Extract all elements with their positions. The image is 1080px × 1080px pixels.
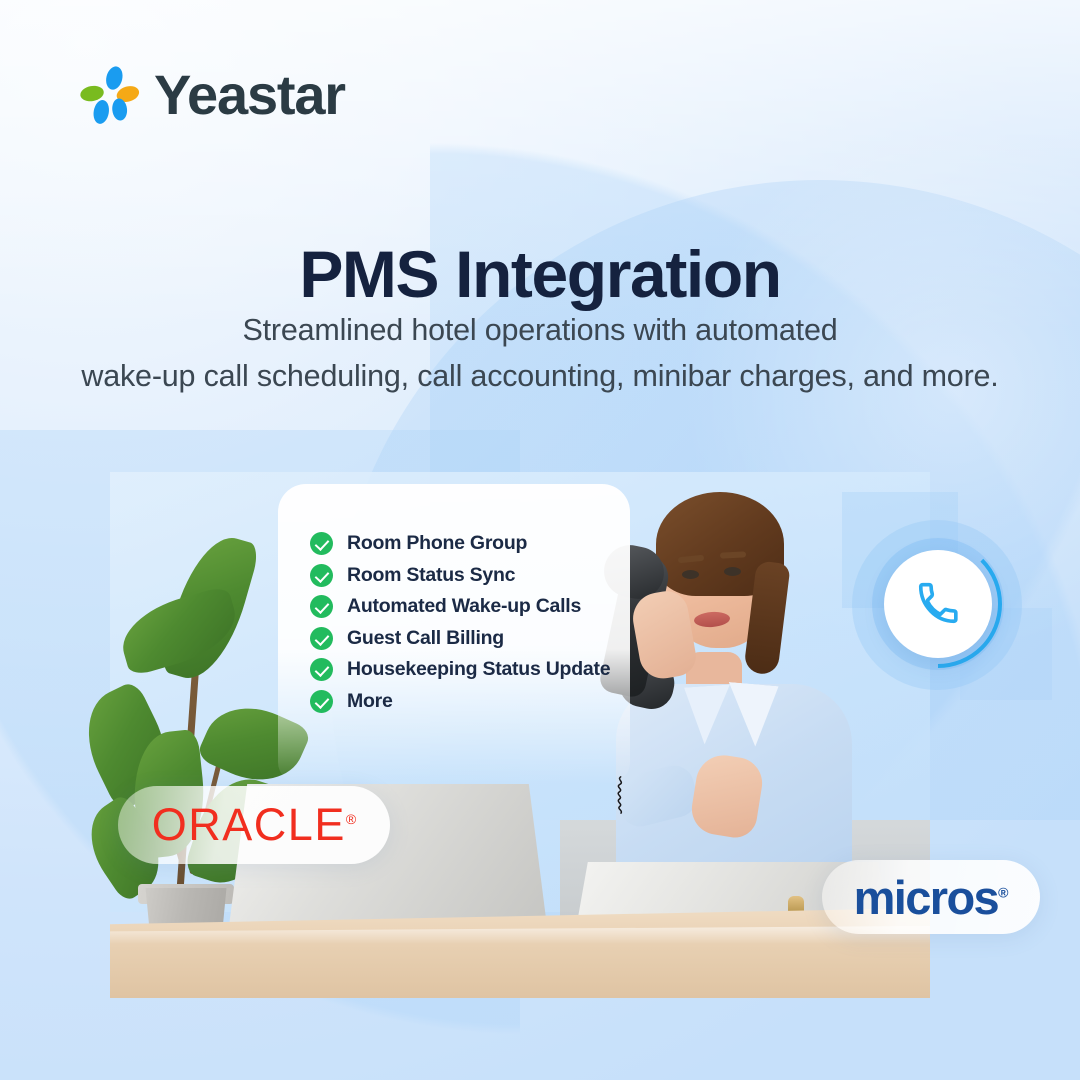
partner-badge-micros[interactable]: micros® (822, 860, 1040, 934)
phone-handset-icon (915, 581, 961, 627)
phone-badge (842, 512, 1042, 698)
check-circle-icon (310, 595, 333, 618)
list-item: Automated Wake-up Calls (310, 591, 640, 623)
check-circle-icon (310, 627, 333, 650)
feature-label: Automated Wake-up Calls (347, 595, 581, 618)
poster-canvas: Yeastar PMS Integration Streamlined hote… (0, 0, 1080, 1080)
feature-label: Room Phone Group (347, 532, 527, 555)
micros-registered-mark: ® (998, 884, 1008, 900)
check-circle-icon (310, 658, 333, 681)
check-circle-icon (310, 532, 333, 555)
oracle-wordmark: ORACLE (152, 799, 346, 850)
list-item: Guest Call Billing (310, 623, 640, 655)
check-circle-icon (310, 690, 333, 713)
oracle-logo: ORACLE® (152, 799, 356, 851)
oracle-registered-mark: ® (346, 811, 356, 827)
feature-label: Room Status Sync (347, 564, 515, 587)
badge-circle (884, 550, 992, 658)
micros-logo: micros® (854, 870, 1009, 925)
check-circle-icon (310, 564, 333, 587)
feature-label: More (347, 690, 393, 713)
list-item: Room Phone Group (310, 528, 640, 560)
partner-badge-oracle[interactable]: ORACLE® (118, 786, 390, 864)
list-item: Housekeeping Status Update (310, 654, 640, 686)
feature-list: Room Phone Group Room Status Sync Automa… (310, 528, 640, 717)
micros-wordmark: micros (854, 871, 999, 924)
feature-label: Housekeeping Status Update (347, 658, 610, 681)
list-item: Room Status Sync (310, 560, 640, 592)
list-item: More (310, 686, 640, 718)
feature-label: Guest Call Billing (347, 627, 504, 650)
